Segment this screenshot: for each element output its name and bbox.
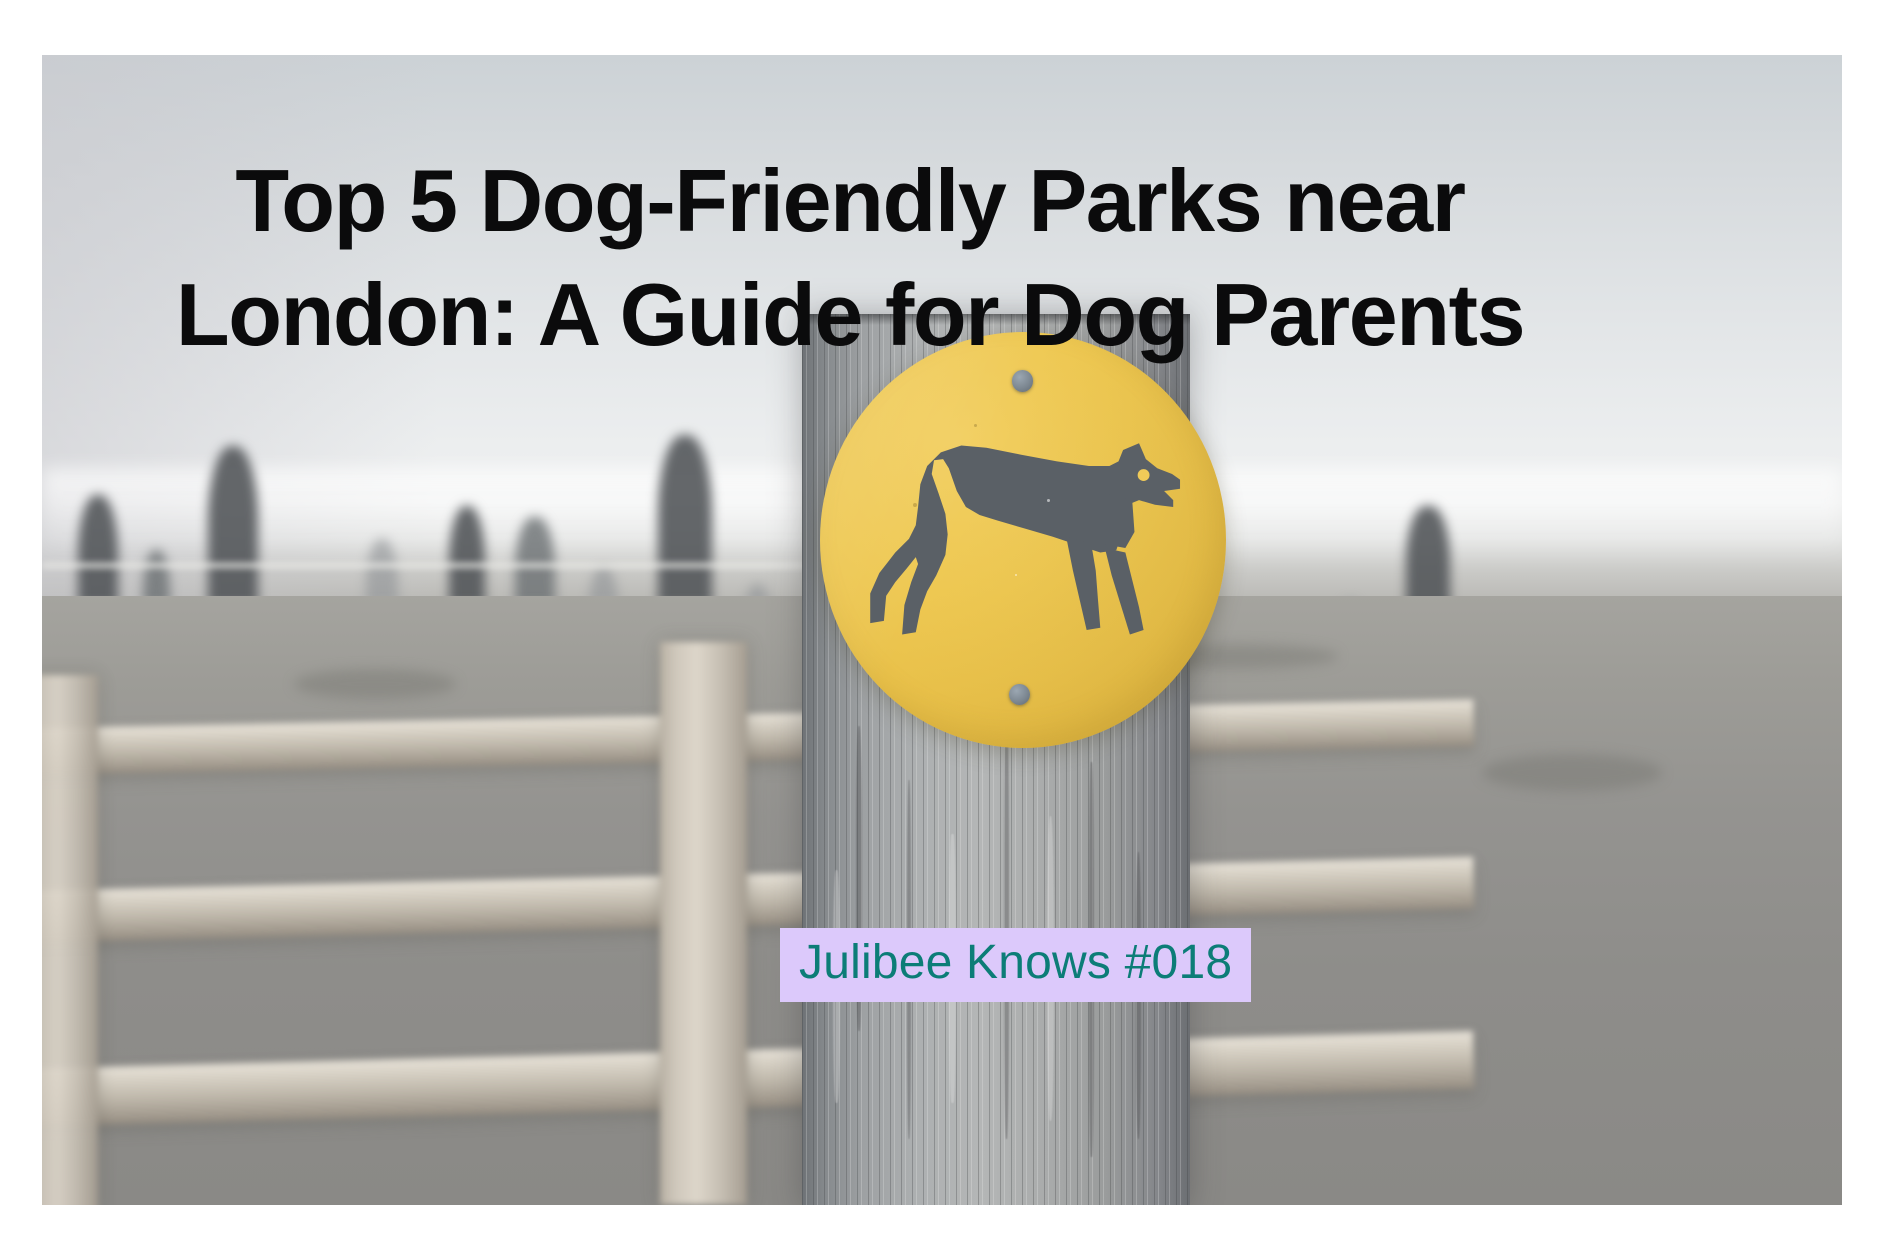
dog-icon <box>852 386 1194 694</box>
distant-rail <box>42 563 852 568</box>
title-line-1: Top 5 Dog-Friendly Parks near <box>235 151 1464 250</box>
wood-grain <box>1004 708 1009 1139</box>
screw-icon <box>1012 370 1033 391</box>
ground-texture <box>1482 754 1662 791</box>
page-title: Top 5 Dog-Friendly Parks near London: A … <box>140 144 1560 373</box>
yellow-dog-sign <box>820 332 1227 748</box>
sign-blemish <box>1047 499 1050 502</box>
fence-post <box>42 675 98 1205</box>
fence-rail <box>42 699 1474 775</box>
fence-post <box>660 642 747 1205</box>
status-badge: Julibee Knows #018 <box>780 928 1251 1002</box>
fence-rail <box>42 857 1474 944</box>
fence-rail <box>42 1031 1475 1127</box>
poster-canvas: Top 5 Dog-Friendly Parks near London: A … <box>0 0 1890 1260</box>
title-line-2: London: A Guide for Dog Parents <box>176 265 1524 364</box>
